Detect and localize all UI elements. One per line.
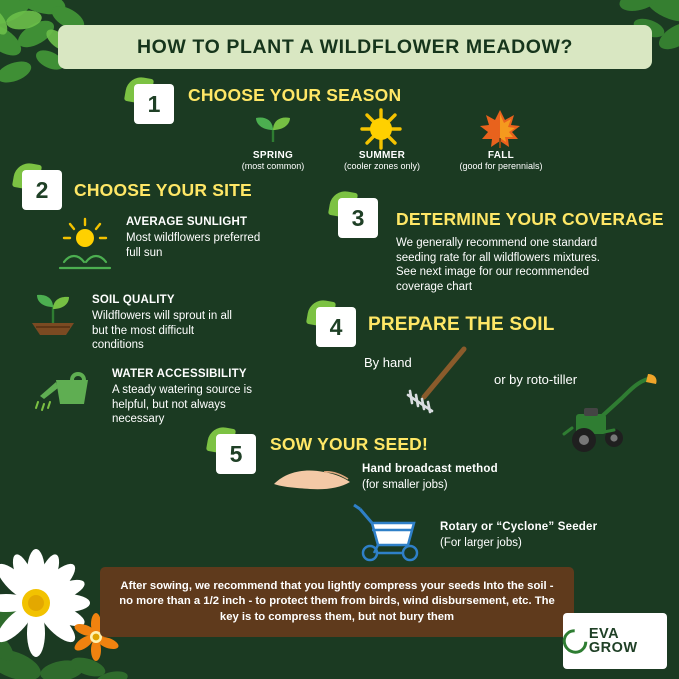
hand-broadcast-heading: Hand broadcast method: [362, 463, 498, 475]
step-3-text: We generally recommend one standard seed…: [396, 236, 679, 295]
rotary-seeder-note: (For larger jobs): [440, 536, 660, 551]
step-5-number: 5: [216, 434, 256, 474]
infographic-canvas: HOW TO PLANT A WILDFLOWER MEADOW? 1 CHOO…: [0, 0, 679, 679]
step-2-number: 2: [22, 170, 62, 210]
step-4-title: PREPARE THE SOIL: [368, 314, 555, 336]
page-title: HOW TO PLANT A WILDFLOWER MEADOW?: [137, 36, 573, 59]
foliage-top-left-icon: [0, 0, 140, 138]
sun-icon: [358, 108, 404, 150]
season-spring-note: (most common): [230, 161, 316, 171]
hand-broadcast-icon: [270, 462, 354, 496]
logo-text: EVA GROW: [589, 627, 667, 656]
soil-quality-heading: SOIL QUALITY: [92, 294, 175, 306]
step-3-badge: 3: [338, 198, 378, 238]
seedling-icon: [252, 112, 294, 146]
water-accessibility-heading: WATER ACCESSIBILITY: [112, 368, 247, 380]
season-fall-name: FALL: [446, 150, 556, 161]
step-5-title: SOW YOUR SEED!: [270, 434, 428, 455]
page-title-banner: HOW TO PLANT A WILDFLOWER MEADOW?: [58, 25, 652, 69]
season-summer-name: SUMMER: [330, 150, 434, 161]
roto-tiller-icon: [548, 370, 658, 460]
sun-over-field-icon: [56, 218, 114, 270]
season-spring-caption: SPRING (most common): [230, 150, 316, 171]
step-4-badge: 4: [316, 307, 356, 347]
maple-leaf-icon: [478, 108, 522, 150]
hand-broadcast-note: (for smaller jobs): [362, 478, 582, 493]
sunlight-text: Most wildflowers preferred full sun: [126, 231, 341, 260]
step-1-badge: 1: [134, 84, 174, 124]
step-5-badge: 5: [216, 434, 256, 474]
step-2-title: CHOOSE YOUR SITE: [74, 180, 252, 201]
watering-can-icon: [34, 366, 98, 412]
logo-c-mark-icon: [558, 624, 593, 659]
step-3-title: DETERMINE YOUR COVERAGE: [396, 209, 664, 230]
season-summer-caption: SUMMER (cooler zones only): [330, 150, 434, 171]
seed-spreader-icon: [352, 503, 432, 561]
rake-icon: [398, 345, 476, 417]
bottom-note-text: After sowing, we recommend that you ligh…: [114, 579, 560, 625]
step-2-badge: 2: [22, 170, 62, 210]
step-1-number: 1: [134, 84, 174, 124]
soil-quality-text: Wildflowers will sprout in all but the m…: [92, 309, 307, 353]
season-spring-name: SPRING: [230, 150, 316, 161]
step-1-title: CHOOSE YOUR SEASON: [188, 85, 401, 106]
season-fall-note: (good for perennials): [446, 161, 556, 171]
sunlight-heading: AVERAGE SUNLIGHT: [126, 216, 247, 228]
step-3-number: 3: [338, 198, 378, 238]
rotary-seeder-heading: Rotary or “Cyclone” Seeder: [440, 521, 597, 533]
water-accessibility-text: A steady watering source is helpful, but…: [112, 383, 327, 427]
bottom-note-box: After sowing, we recommend that you ligh…: [100, 567, 574, 637]
sprout-in-soil-icon: [22, 285, 84, 337]
season-fall-caption: FALL (good for perennials): [446, 150, 556, 171]
step-4-number: 4: [316, 307, 356, 347]
season-summer-note: (cooler zones only): [330, 161, 434, 171]
brand-logo: EVA GROW: [563, 613, 667, 669]
